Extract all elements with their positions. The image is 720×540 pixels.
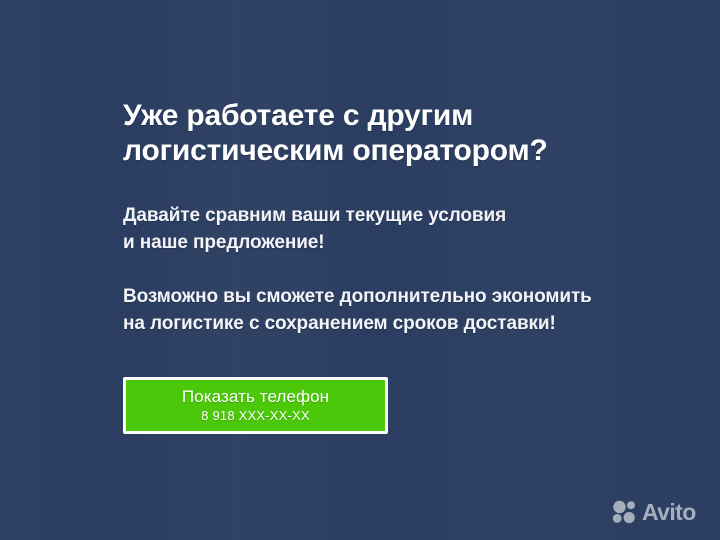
show-phone-button[interactable]: Показать телефон 8 918 XXX-XX-XX: [123, 377, 388, 434]
show-phone-button-label: Показать телефон: [182, 387, 329, 407]
promo-banner: Уже работаете с другим логистическим опе…: [0, 0, 720, 540]
masked-phone-number: 8 918 XXX-XX-XX: [201, 408, 310, 424]
avito-dots-logo-icon: [612, 500, 638, 524]
offer-paragraph-secondary: Возможно вы сможете дополнительно эконом…: [123, 283, 680, 337]
avito-wordmark: Avito: [642, 501, 696, 524]
page-title: Уже работаете с другим логистическим опе…: [123, 98, 680, 168]
banner-content: Уже работаете с другим логистическим опе…: [123, 98, 680, 337]
offer-paragraph-primary: Давайте сравним ваши текущие условия и н…: [123, 202, 680, 256]
avito-watermark: Avito: [612, 500, 696, 524]
